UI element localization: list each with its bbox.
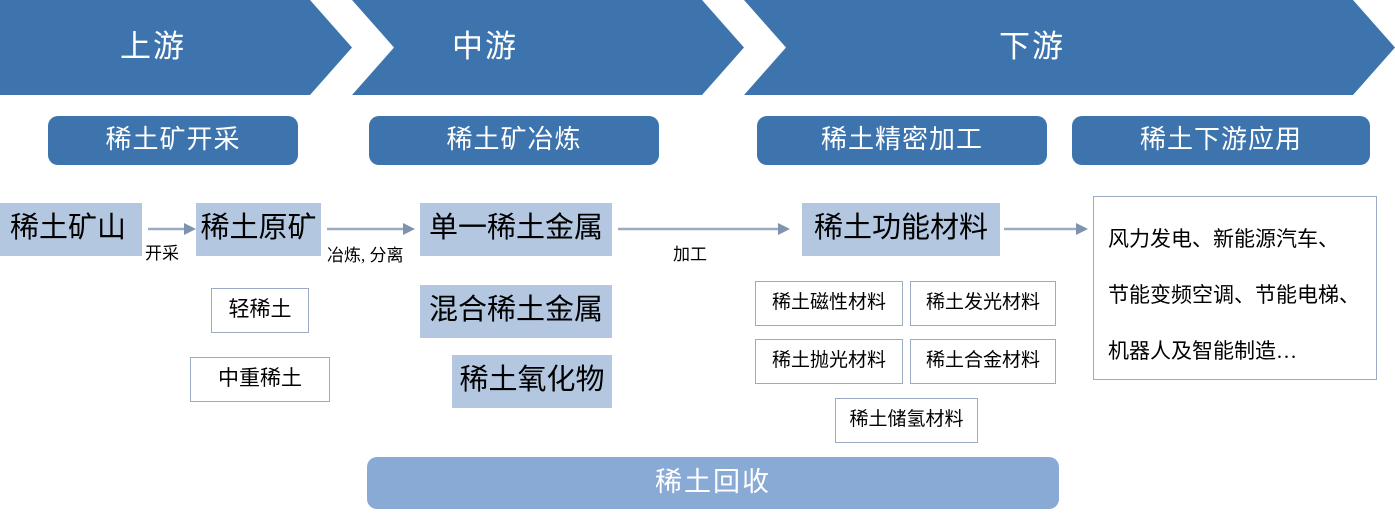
arrow-mining xyxy=(148,222,196,236)
node-label: 混合稀土金属 xyxy=(429,296,603,328)
node-label: 轻稀土 xyxy=(229,299,292,323)
node-hydrogen-storage-material[interactable]: 稀土储氢材料 xyxy=(835,398,978,443)
node-medium-heavy-rare-earth[interactable]: 中重稀土 xyxy=(190,357,330,402)
node-label: 稀土抛光材料 xyxy=(772,351,886,373)
node-label: 稀土磁性材料 xyxy=(772,293,886,315)
stage-pill-precision-processing[interactable]: 稀土精密加工 xyxy=(757,116,1047,165)
arrow-label-mining: 开采 xyxy=(145,245,179,262)
node-label: 单一稀土金属 xyxy=(429,214,603,246)
node-light-rare-earth[interactable]: 轻稀土 xyxy=(211,288,309,333)
node-label: 稀土储氢材料 xyxy=(849,410,963,432)
node-rare-earth-oxide[interactable]: 稀土氧化物 xyxy=(452,355,612,408)
header-segment-label: 中游 xyxy=(452,31,518,64)
arrow-label-smelting: 冶炼, 分离 xyxy=(327,247,404,264)
applications-box[interactable]: 风力发电、新能源汽车、 节能变频空调、节能电梯、 机器人及智能制造… xyxy=(1093,196,1377,380)
node-polishing-material[interactable]: 稀土抛光材料 xyxy=(755,339,903,384)
header-segment-label: 下游 xyxy=(999,31,1065,64)
stage-pill-smelting[interactable]: 稀土矿冶炼 xyxy=(369,116,659,165)
recycle-bar[interactable]: 稀土回收 xyxy=(367,457,1059,509)
stage-pill-label: 稀土矿冶炼 xyxy=(446,127,581,155)
node-luminescent-material[interactable]: 稀土发光材料 xyxy=(910,281,1056,326)
header-segment-midstream[interactable]: 中游 xyxy=(352,0,744,95)
header-segment-downstream[interactable]: 下游 xyxy=(744,0,1395,95)
header-segment-upstream[interactable]: 上游 xyxy=(0,0,352,95)
stage-pill-downstream-application[interactable]: 稀土下游应用 xyxy=(1072,116,1370,165)
header-segment-label: 上游 xyxy=(120,31,186,64)
stage-pill-label: 稀土下游应用 xyxy=(1140,127,1302,155)
node-label: 稀土功能材料 xyxy=(814,214,988,246)
node-functional-material[interactable]: 稀土功能材料 xyxy=(802,203,1000,256)
recycle-bar-label: 稀土回收 xyxy=(655,469,771,498)
node-label: 稀土发光材料 xyxy=(926,293,1040,315)
stage-pill-mining[interactable]: 稀土矿开采 xyxy=(48,116,298,165)
node-label: 中重稀土 xyxy=(218,368,302,392)
node-mixed-rare-earth-metal[interactable]: 混合稀土金属 xyxy=(420,285,612,338)
node-single-rare-earth-metal[interactable]: 单一稀土金属 xyxy=(420,203,612,256)
stage-pill-label: 稀土精密加工 xyxy=(821,127,983,155)
node-label: 稀土氧化物 xyxy=(459,366,604,398)
node-label: 稀土合金材料 xyxy=(926,351,1040,373)
node-label: 稀土矿山 xyxy=(10,214,126,246)
stage-pill-label: 稀土矿开采 xyxy=(105,127,240,155)
node-label: 稀土原矿 xyxy=(200,214,316,246)
node-alloy-material[interactable]: 稀土合金材料 xyxy=(910,339,1056,384)
arrow-to-applications xyxy=(1004,222,1088,236)
node-magnetic-material[interactable]: 稀土磁性材料 xyxy=(755,281,903,326)
arrow-processing xyxy=(618,222,790,236)
application-line: 节能变频空调、节能电梯、 xyxy=(1108,267,1364,323)
arrow-label-processing: 加工 xyxy=(673,246,707,263)
application-line: 风力发电、新能源汽车、 xyxy=(1108,211,1364,267)
arrow-smelting xyxy=(327,222,415,236)
application-line: 机器人及智能制造… xyxy=(1108,323,1364,379)
node-rare-earth-mine[interactable]: 稀土矿山 xyxy=(0,203,142,256)
node-raw-ore[interactable]: 稀土原矿 xyxy=(196,203,321,256)
pipeline-header-band: 上游 中游 下游 xyxy=(0,0,1395,95)
